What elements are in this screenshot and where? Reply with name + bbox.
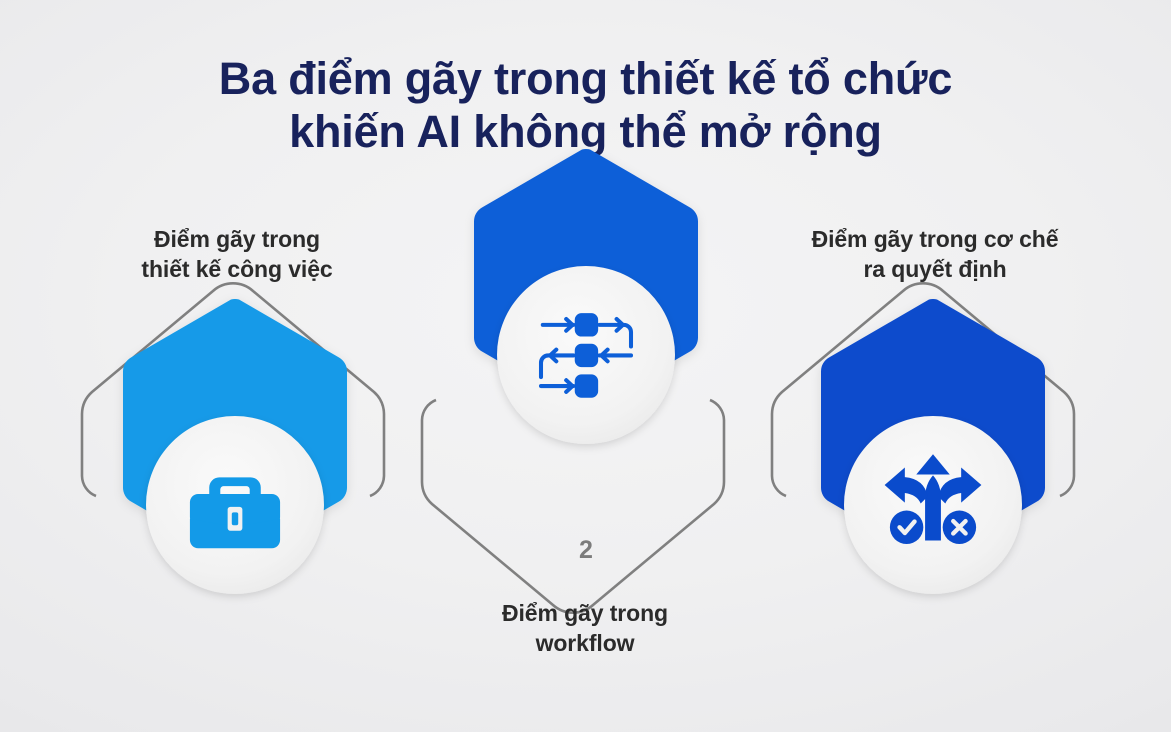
node-3-label-line-2: ra quyết định [760, 254, 1110, 284]
node-2-label-line-1: Điểm gãy trong [425, 598, 745, 628]
node-3-label-line-1: Điểm gãy trong cơ chế [760, 224, 1110, 254]
step-number-2: 2 [579, 536, 593, 564]
node-3-label: Điểm gãy trong cơ chế ra quyết định [760, 224, 1110, 285]
node-2-label-line-2: workflow [425, 628, 745, 658]
node-1-label-line-2: thiết kế công việc [62, 254, 412, 284]
node-1-label-line-1: Điểm gãy trong [62, 224, 412, 254]
node-1[interactable] [123, 299, 347, 594]
node-1-label: Điểm gãy trong thiết kế công việc [62, 224, 412, 285]
node-3[interactable] [821, 299, 1045, 594]
node-2-label: Điểm gãy trong workflow [425, 598, 745, 659]
node-2[interactable] [474, 149, 698, 444]
